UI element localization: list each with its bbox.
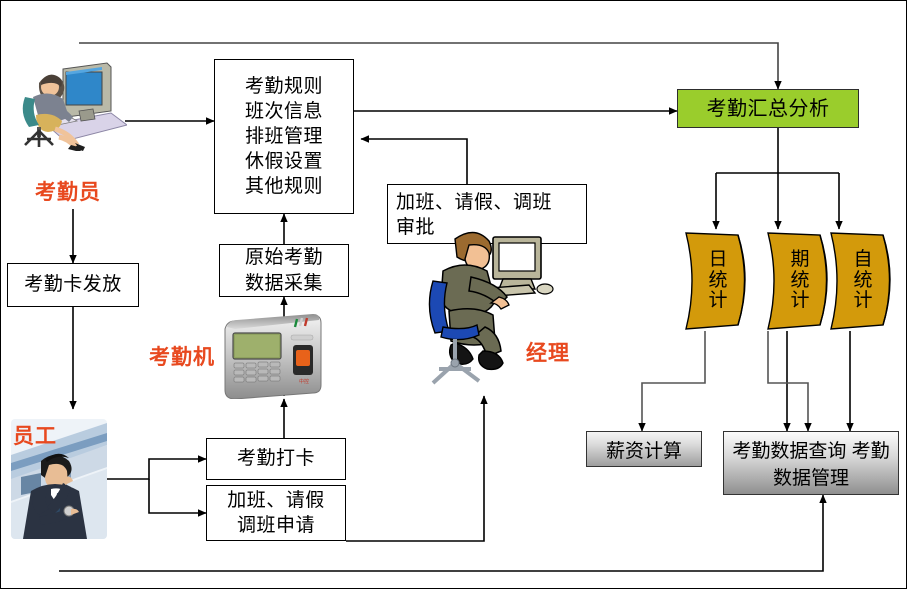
edge-employee-to-datamanage — [59, 495, 823, 571]
box-card-issue[interactable]: 考勤卡发放 — [7, 263, 139, 307]
box-punch-card[interactable]: 考勤打卡 — [206, 438, 346, 480]
box-attendance-data-management-text: 考勤数据查询 考勤数据管理 — [724, 436, 898, 490]
role-label-device: 考勤机 — [149, 341, 215, 371]
edge-apply-to-manager — [346, 396, 484, 541]
box-raw-attendance-data[interactable]: 原始考勤 数据采集 — [219, 244, 349, 297]
box-attendance-data-management[interactable]: 考勤数据查询 考勤数据管理 — [723, 431, 899, 495]
edge-dailystat-to-salary — [642, 331, 705, 431]
svg-text:中控: 中控 — [299, 378, 309, 385]
role-label-clerk: 考勤员 — [35, 176, 101, 206]
cylinder-period-stat-char-0: 期 — [790, 249, 809, 270]
manager-at-desk-image — [425, 223, 559, 395]
box-raw-attendance-data-text: 原始考勤 数据采集 — [245, 245, 323, 295]
box-attendance-summary-analysis-text: 考勤汇总分析 — [707, 95, 830, 121]
cylinder-daily-stat-char-1: 统 — [708, 270, 727, 291]
cylinder-custom-stat-char-2: 计 — [853, 290, 872, 311]
box-punch-card-text: 考勤打卡 — [237, 446, 315, 471]
attendance-machine-image: 中控 — [219, 313, 327, 399]
cylinder-custom-stat-char-1: 统 — [853, 270, 872, 291]
flowchart-canvas: 考勤员 考勤规则 班次信息 排班管理 休假设置 其他规则 原始考勤 数据采集 考… — [0, 0, 907, 589]
box-salary-calculation-text: 薪资计算 — [606, 436, 682, 463]
cylinder-custom-stat-char-0: 自 — [853, 249, 872, 270]
edge-periodstat-to-datamanage-b — [768, 331, 808, 431]
box-attendance-rules[interactable]: 考勤规则 班次信息 排班管理 休假设置 其他规则 — [214, 59, 354, 214]
clerk-at-desk-image — [19, 53, 127, 151]
edge-employee-to-apply — [149, 479, 206, 513]
box-card-issue-text: 考勤卡发放 — [24, 272, 122, 297]
box-overtime-leave-apply[interactable]: 加班、请假 调班申请 — [206, 485, 346, 541]
box-overtime-leave-apply-text: 加班、请假 调班申请 — [227, 488, 325, 538]
cylinder-period-stat-char-2: 计 — [790, 290, 809, 311]
edge-top-to-summary — [79, 43, 778, 89]
box-attendance-summary-analysis[interactable]: 考勤汇总分析 — [677, 89, 859, 128]
cylinder-period-stat-char-1: 统 — [790, 270, 809, 291]
box-salary-calculation[interactable]: 薪资计算 — [586, 431, 702, 467]
cylinder-period-stat[interactable]: 期 统 计 — [762, 229, 834, 331]
cylinder-daily-stat[interactable]: 日 统 计 — [680, 229, 752, 331]
cylinder-custom-stat[interactable]: 自 统 计 — [825, 229, 897, 331]
box-attendance-rules-text: 考勤规则 班次信息 排班管理 休假设置 其他规则 — [245, 74, 323, 199]
edge-employee-to-punch — [106, 459, 206, 479]
cylinder-daily-stat-char-2: 计 — [708, 290, 727, 311]
edge-approval-to-rules — [361, 139, 467, 184]
role-label-manager: 经理 — [526, 337, 570, 367]
role-label-employee: 员工 — [13, 420, 57, 450]
cylinder-daily-stat-char-0: 日 — [708, 249, 727, 270]
